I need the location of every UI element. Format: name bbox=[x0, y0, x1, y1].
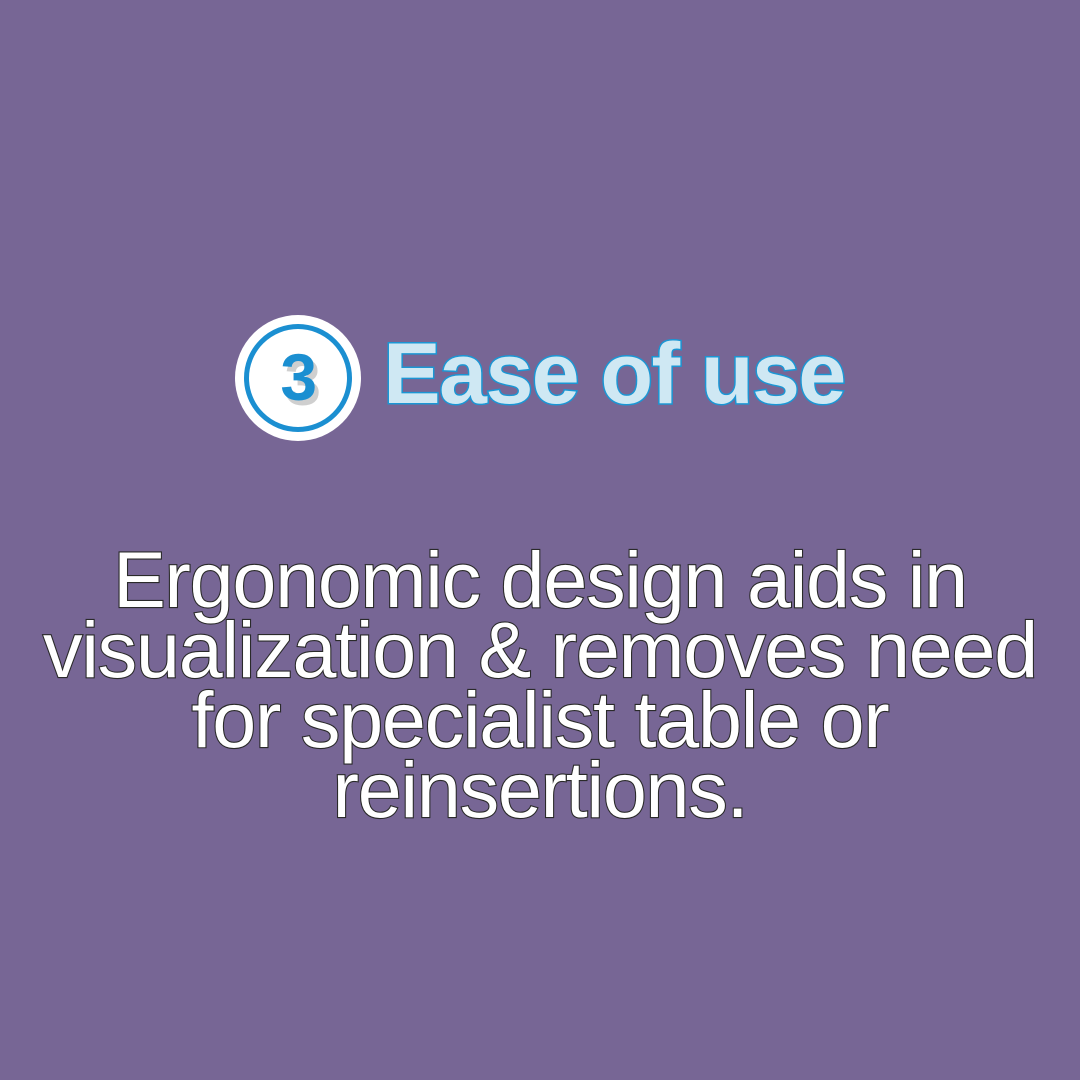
body-paragraph: Ergonomic design aids in visualization &… bbox=[30, 545, 1050, 825]
heading-row: 3 Ease of use bbox=[0, 303, 1080, 453]
body-line-4: reinsertions. bbox=[30, 755, 1050, 825]
step-number-badge: 3 bbox=[235, 315, 361, 441]
step-number-label: 3 bbox=[280, 344, 316, 410]
page-title: Ease of use bbox=[383, 331, 845, 417]
slide-canvas: 3 Ease of use Ergonomic design aids in v… bbox=[0, 0, 1080, 1080]
